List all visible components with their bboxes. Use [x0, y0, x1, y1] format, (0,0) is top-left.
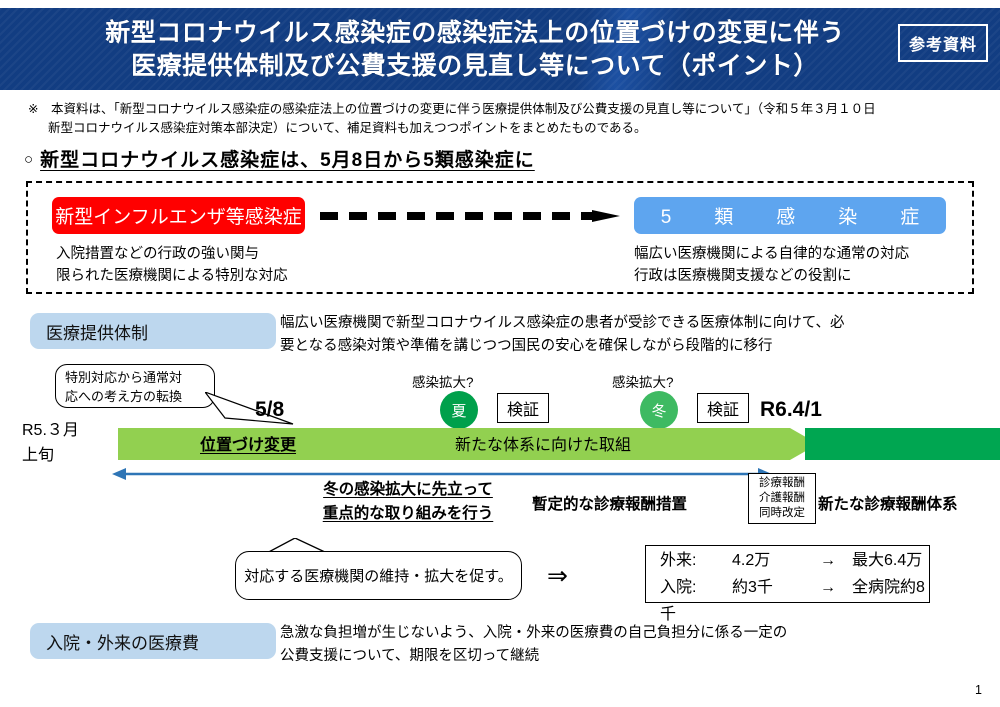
table-row: 外来:4.2万→最大6.4万 — [660, 547, 929, 574]
row-before-outpatient: 4.2万 — [732, 547, 804, 574]
dashed-right-arrow-icon — [320, 210, 620, 222]
note-line1: ※ 本資料は、「新型コロナウイルス感染症の感染症法上の位置づけの変更に伴う医療提… — [28, 102, 876, 116]
timeline-start-label: R5.３月 上旬 — [22, 418, 79, 468]
timeline-start-line1: R5.３月 — [22, 418, 79, 443]
timeline-date-may8: 5/8 — [255, 398, 284, 422]
medical-costs-line2: 公費支援について、期限を区切って継続 — [280, 645, 980, 668]
old-desc-line1: 入院措置などの行政の強い関与 — [56, 243, 288, 265]
page-title-line2: 医療提供体制及び公費支援の見直し等について（ポイント） — [60, 50, 890, 83]
bullet-circle-icon: ○ — [24, 151, 34, 168]
page-number: 1 — [975, 683, 982, 697]
double-arrow-right-icon: ⇒ — [547, 561, 568, 591]
section-pill-medical-costs: 入院・外来の医療費 — [30, 623, 276, 659]
simultaneous-revision-box: 診療報酬 介護報酬 同時改定 — [748, 473, 816, 524]
row-label-outpatient: 外来: — [660, 547, 732, 574]
status-badge-old-classification: 新型インフルエンザ等感染症 — [52, 197, 305, 234]
row-arrow-inpatient: → — [804, 574, 852, 601]
section-heading: ○新型コロナウイルス感染症は、5月8日から5類感染症に — [24, 145, 535, 172]
provisional-fee-label: 暫定的な診療報酬措置 — [532, 492, 687, 514]
row-arrow-outpatient: → — [804, 547, 852, 574]
new-classification-description: 幅広い医療機関による自律的な通常の対応 行政は医療機関支援などの役割に — [634, 243, 909, 287]
infection-spread-label-summer: 感染拡大? — [412, 371, 474, 391]
row-before-inpatient: 約3千 — [732, 574, 804, 601]
note-text: ※ 本資料は、「新型コロナウイルス感染症の感染症法上の位置づけの変更に伴う医療提… — [28, 100, 978, 138]
revision-line2: 介護報酬 — [749, 491, 815, 506]
section-pill-healthcare-system: 医療提供体制 — [30, 313, 276, 349]
callout-policy-shift-line1: 特別対応から通常対 — [65, 368, 208, 387]
new-desc-line2: 行政は医療機関支援などの役割に — [634, 265, 909, 287]
winter-priority-line1: 冬の感染拡大に先立って — [323, 481, 493, 498]
new-desc-line1: 幅広い医療機関による自律的な通常の対応 — [634, 243, 909, 265]
note-line2: 新型コロナウイルス感染症対策本部決定）について、補足資料も加えつつポイントをまと… — [28, 119, 978, 138]
old-desc-line2: 限られた医療機関による特別な対応 — [56, 265, 288, 287]
old-classification-description: 入院措置などの行政の強い関与 限られた医療機関による特別な対応 — [56, 243, 288, 287]
winter-priority-line2: 重点的な取り組みを行う — [323, 505, 494, 522]
reference-badge: 参考資料 — [898, 24, 988, 62]
slide-root: 新型コロナウイルス感染症の感染症法上の位置づけの変更に伴う 医療提供体制及び公費… — [0, 0, 1000, 707]
section-heading-text: 新型コロナウイルス感染症は、5月8日から5類感染症に — [40, 150, 535, 171]
timeline-green-bar-next — [805, 428, 1000, 460]
row-label-inpatient: 入院: — [660, 574, 732, 601]
revision-line1: 診療報酬 — [749, 476, 815, 491]
callout-policy-shift: 特別対応から通常対 応への考え方の転換 — [55, 364, 215, 408]
infection-spread-label-winter: 感染拡大? — [612, 371, 674, 391]
timeline-start-line2: 上旬 — [22, 443, 79, 468]
medical-costs-body: 急激な負担増が生じないよう、入院・外来の医療費の自己負担分に係る一定の 公費支援… — [280, 622, 980, 668]
verification-box-winter: 検証 — [697, 393, 749, 423]
season-circle-winter: 冬 — [640, 391, 678, 429]
verification-box-summer: 検証 — [497, 393, 549, 423]
winter-priority-text: 冬の感染拡大に先立って 重点的な取り組みを行う — [273, 478, 543, 526]
medical-costs-line1: 急激な負担増が生じないよう、入院・外来の医療費の自己負担分に係る一定の — [280, 622, 980, 645]
facility-count-table: 外来:4.2万→最大6.4万 入院:約3千→全病院約8千 — [645, 545, 930, 603]
season-circle-summer: 夏 — [440, 391, 478, 429]
timeline-bar-label-newsystem: 新たな体系に向けた取組 — [455, 431, 631, 455]
callout-policy-shift-line2: 応への考え方の転換 — [65, 387, 208, 406]
revision-line3: 同時改定 — [749, 506, 815, 521]
healthcare-body-line2: 要となる感染対策や準備を講じつつ国民の安心を確保しながら段階的に移行 — [280, 335, 980, 358]
new-fee-system-label: 新たな診療報酬体系 — [818, 492, 958, 514]
status-badge-new-classification: 5 類 感 染 症 — [634, 197, 946, 234]
healthcare-body-line1: 幅広い医療機関で新型コロナウイルス感染症の患者が受診できる医療体制に向けて、必 — [280, 312, 980, 335]
page-title-line1: 新型コロナウイルス感染症の感染症法上の位置づけの変更に伴う — [105, 19, 845, 47]
timeline-bar-label-reclassification: 位置づけ変更 — [200, 431, 296, 455]
page-title: 新型コロナウイルス感染症の感染症法上の位置づけの変更に伴う 医療提供体制及び公費… — [60, 17, 890, 83]
header-banner: 新型コロナウイルス感染症の感染症法上の位置づけの変更に伴う 医療提供体制及び公費… — [0, 8, 1000, 90]
row-after-outpatient: 最大6.4万 — [852, 552, 922, 569]
callout-promote-facilities: 対応する医療機関の維持・拡大を促す。 — [235, 551, 522, 600]
healthcare-system-body: 幅広い医療機関で新型コロナウイルス感染症の患者が受診できる医療体制に向けて、必 … — [280, 312, 980, 358]
timeline-date-r6-apr1: R6.4/1 — [760, 398, 822, 422]
table-row: 入院:約3千→全病院約8千 — [660, 574, 929, 628]
